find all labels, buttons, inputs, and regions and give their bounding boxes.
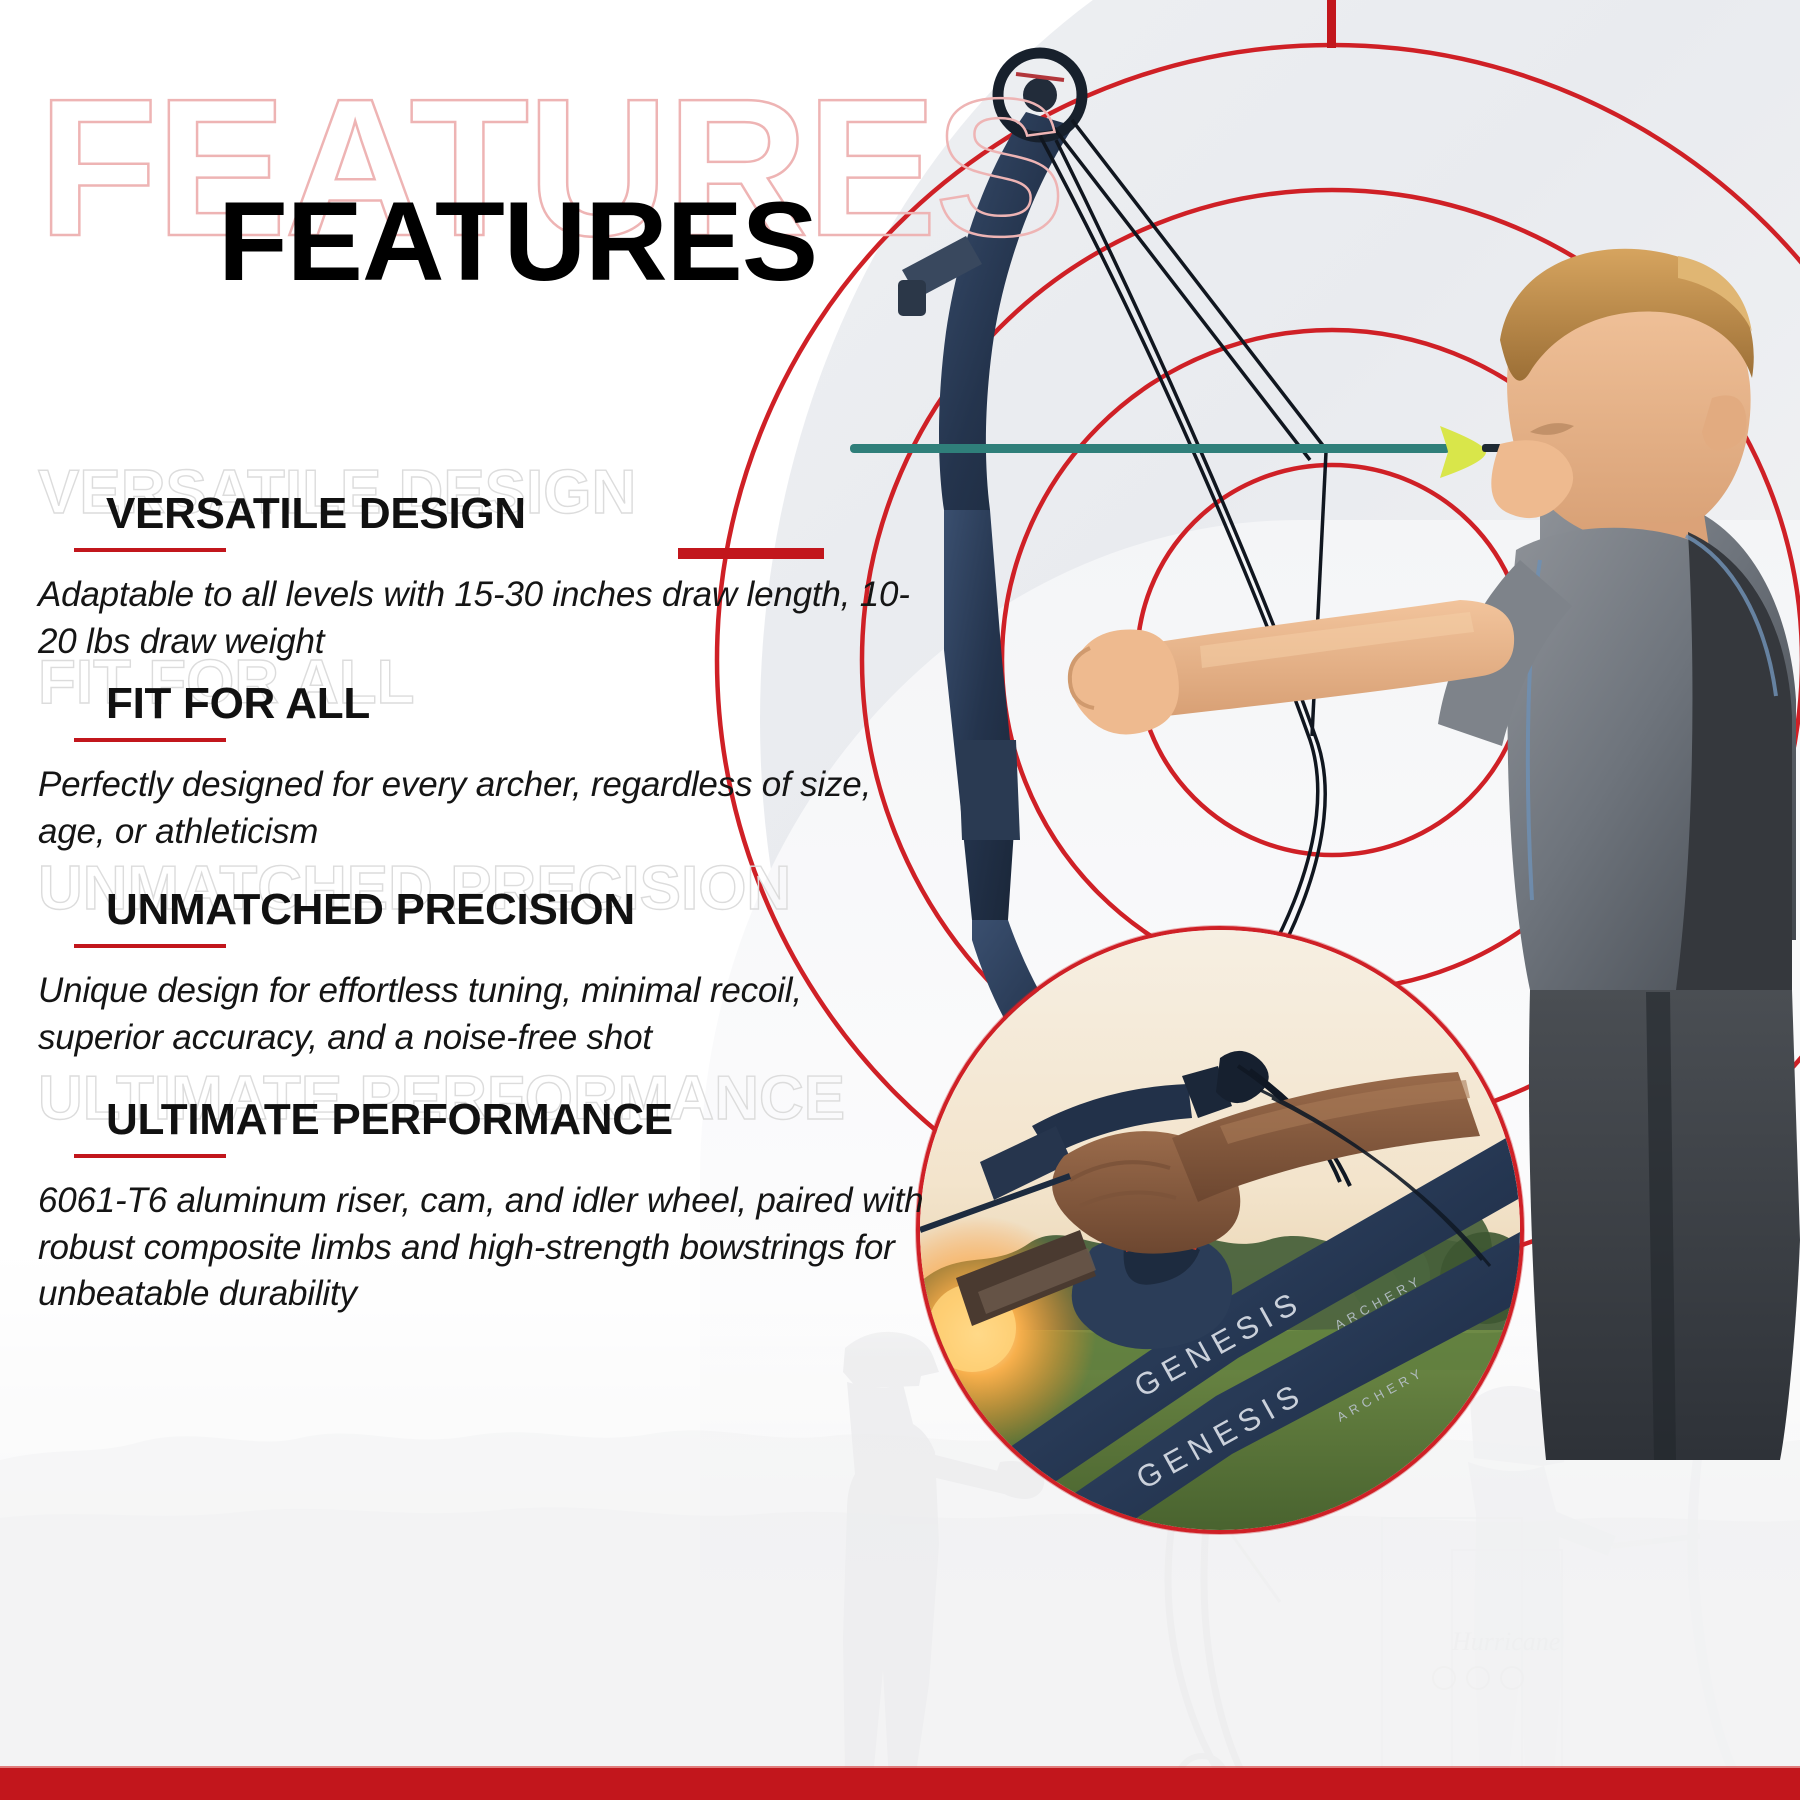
inset-bow-closeup-photo: GENESIS GENESIS ARCHERY ARCHERY	[916, 926, 1524, 1534]
page-title: FEATURES	[218, 186, 817, 298]
feature-body: Perfectly designed for every archer, reg…	[38, 762, 918, 855]
page-title-block: FEATURES FEATURES	[38, 70, 1238, 290]
svg-text:Hurricane: Hurricane	[1451, 1627, 1560, 1656]
feature-underline	[74, 738, 226, 742]
feature-heading: UNMATCHED PRECISION	[106, 888, 635, 932]
poster-canvas: Hurricane	[0, 0, 1800, 1800]
feature-heading: VERSATILE DESIGN	[106, 492, 526, 536]
feature-underline	[74, 1154, 226, 1158]
feature-body: Unique design for effortless tuning, min…	[38, 968, 918, 1061]
red-dash-accent	[678, 548, 824, 559]
content-column: FEATURES FEATURES VERSATILE DESIGN VERSA…	[0, 0, 920, 1800]
feature-heading: FIT FOR ALL	[106, 682, 370, 726]
footer-red-bar	[0, 1768, 1800, 1800]
red-tick-accent	[1327, 0, 1336, 48]
feature-heading: ULTIMATE PERFORMANCE	[106, 1098, 673, 1142]
feature-underline	[74, 944, 226, 948]
feature-underline	[74, 548, 226, 552]
feature-body: 6061-T6 aluminum riser, cam, and idler w…	[38, 1178, 938, 1318]
